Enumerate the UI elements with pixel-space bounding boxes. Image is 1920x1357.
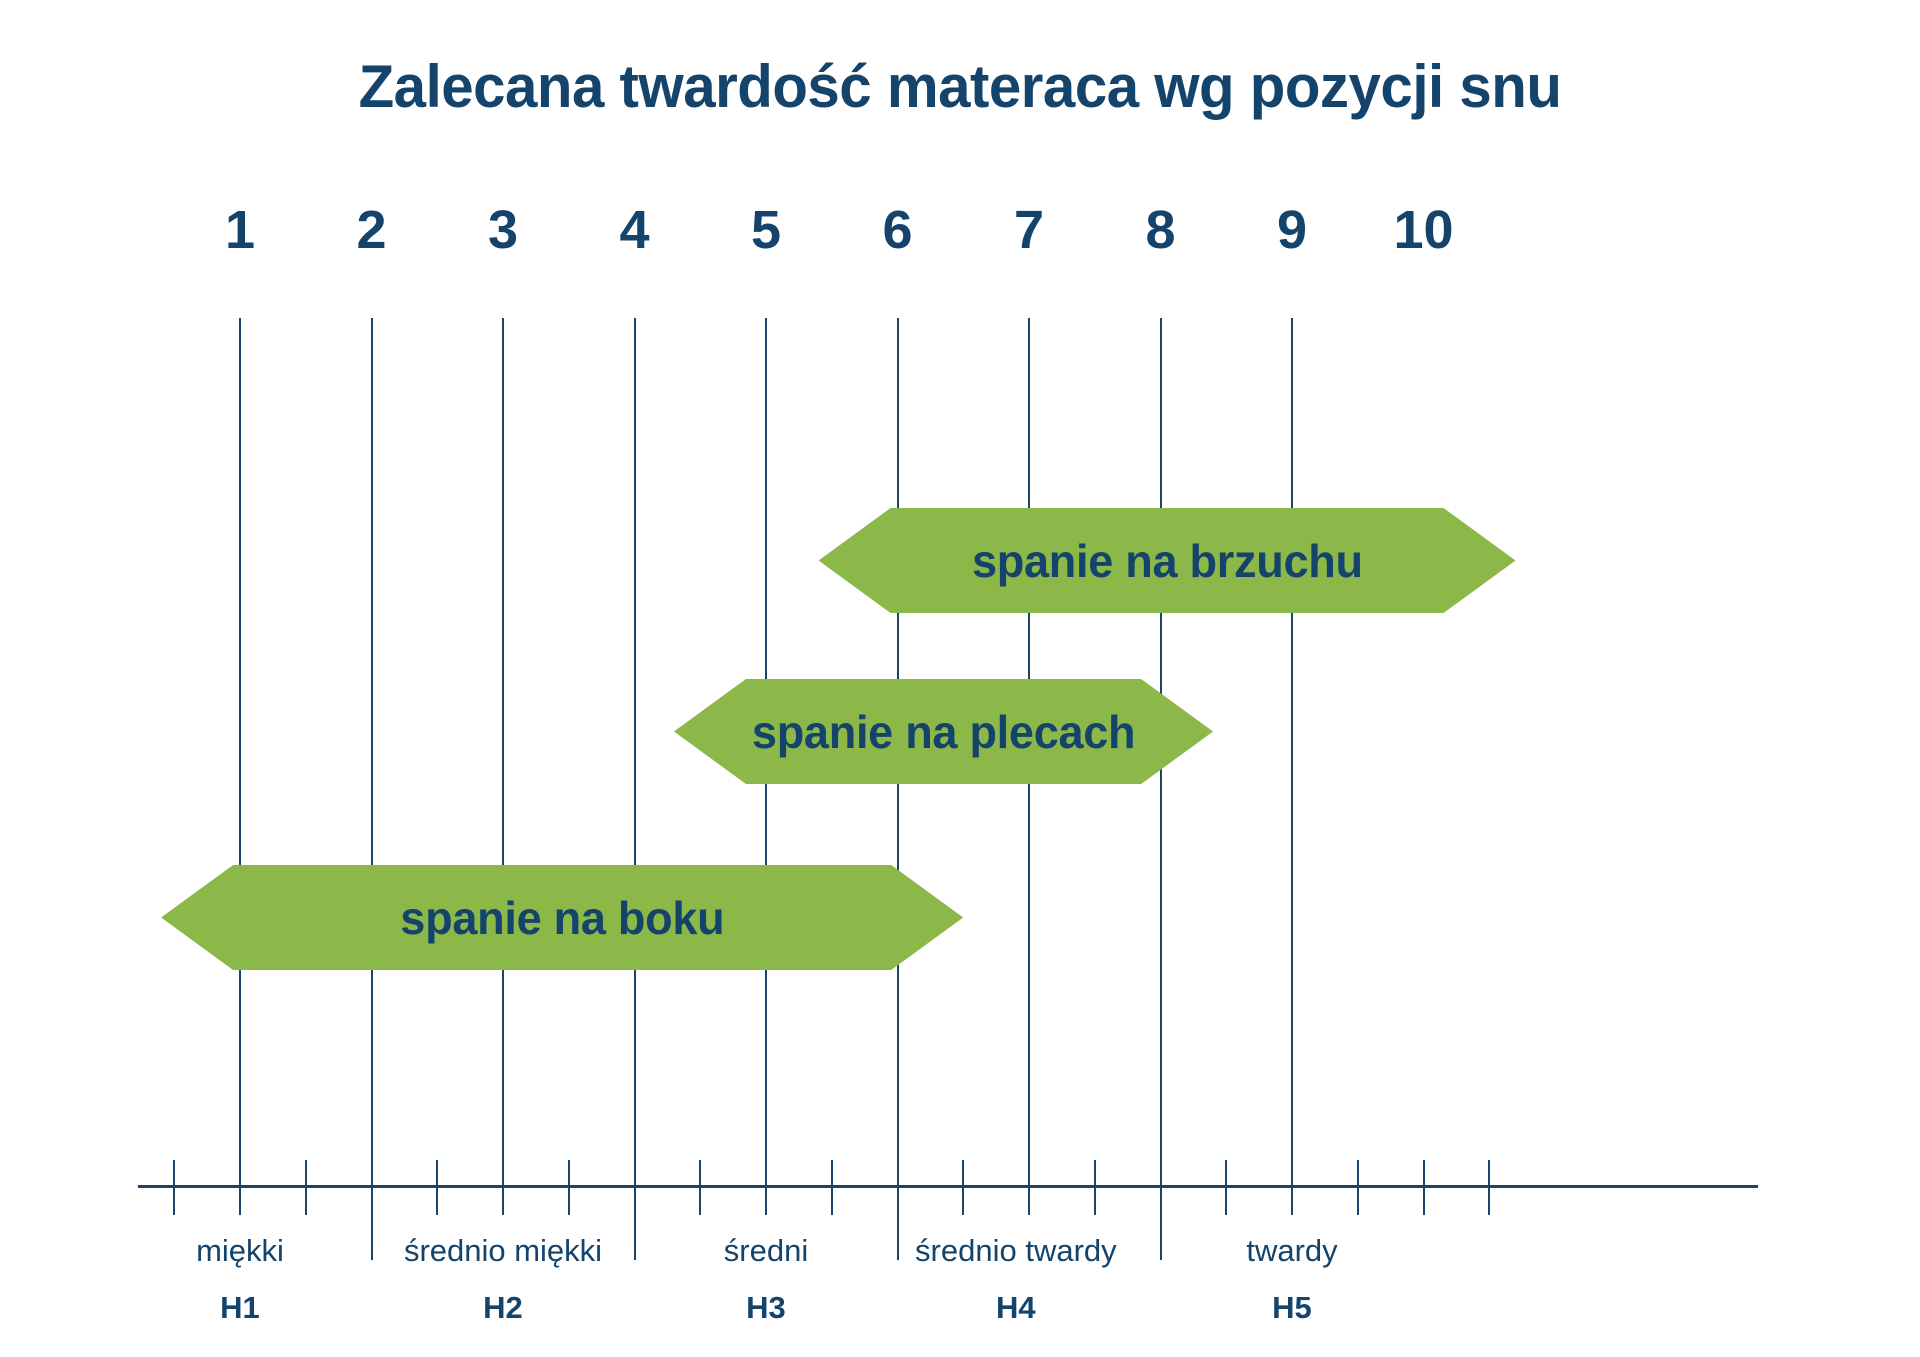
zone-name: średni — [724, 1235, 808, 1266]
zone-code: H1 — [196, 1292, 284, 1323]
axis-tick — [1291, 1160, 1293, 1215]
zone-name: twardy — [1246, 1235, 1337, 1266]
zone-label-H5: twardyH5 — [1246, 1235, 1337, 1323]
zone-label-H4: średnio twardyH4 — [915, 1235, 1117, 1323]
axis-tick — [1423, 1160, 1425, 1215]
band-label: spanie na plecach — [752, 705, 1135, 759]
axis-tick — [502, 1160, 504, 1215]
scale-number-10: 10 — [1393, 203, 1453, 257]
scale-number-6: 6 — [882, 203, 912, 257]
band-spanie-na-brzuchu: spanie na brzuchu — [819, 508, 1516, 613]
band-spanie-na-plecach: spanie na plecach — [674, 679, 1213, 784]
gridline-3 — [502, 318, 504, 1190]
scale-number-2: 2 — [356, 203, 386, 257]
zone-name: średnio miękki — [404, 1235, 602, 1266]
axis-tick — [1357, 1160, 1359, 1215]
gridline-1 — [239, 318, 241, 1190]
zone-code: H3 — [724, 1292, 808, 1323]
axis-tick — [239, 1160, 241, 1215]
axis-tick — [831, 1160, 833, 1215]
zone-separator-3 — [897, 318, 899, 1260]
axis-tick — [173, 1160, 175, 1215]
scale-number-4: 4 — [619, 203, 649, 257]
axis-tick — [765, 1160, 767, 1215]
band-spanie-na-boku: spanie na boku — [161, 865, 963, 970]
plot-area: 12345678910spanie na brzuchuspanie na pl… — [0, 0, 1920, 1357]
axis-tick — [1028, 1160, 1030, 1215]
band-label: spanie na boku — [400, 891, 724, 945]
zone-separator-2 — [634, 318, 636, 1260]
axis-tick — [568, 1160, 570, 1215]
mattress-firmness-chart: Zalecana twardość materaca wg pozycji sn… — [0, 0, 1920, 1357]
zone-code: H4 — [915, 1292, 1117, 1323]
zone-separator-1 — [371, 318, 373, 1260]
axis-tick — [1225, 1160, 1227, 1215]
scale-number-5: 5 — [751, 203, 781, 257]
zone-separator-4 — [1160, 318, 1162, 1260]
scale-number-7: 7 — [1014, 203, 1044, 257]
axis-tick — [436, 1160, 438, 1215]
zone-name: miękki — [196, 1235, 284, 1266]
axis-tick — [1094, 1160, 1096, 1215]
axis-tick — [1488, 1160, 1490, 1215]
scale-number-3: 3 — [488, 203, 518, 257]
scale-number-9: 9 — [1277, 203, 1307, 257]
zone-code: H2 — [404, 1292, 602, 1323]
zone-label-H1: miękkiH1 — [196, 1235, 284, 1323]
axis-tick — [305, 1160, 307, 1215]
band-label: spanie na brzuchu — [972, 534, 1363, 588]
scale-number-8: 8 — [1145, 203, 1175, 257]
axis-tick — [699, 1160, 701, 1215]
axis-baseline — [138, 1185, 1758, 1188]
zone-code: H5 — [1246, 1292, 1337, 1323]
axis-tick — [962, 1160, 964, 1215]
gridline-9 — [1291, 318, 1293, 1190]
zone-label-H3: średniH3 — [724, 1235, 808, 1323]
scale-number-1: 1 — [225, 203, 255, 257]
zone-label-H2: średnio miękkiH2 — [404, 1235, 602, 1323]
zone-name: średnio twardy — [915, 1235, 1117, 1266]
